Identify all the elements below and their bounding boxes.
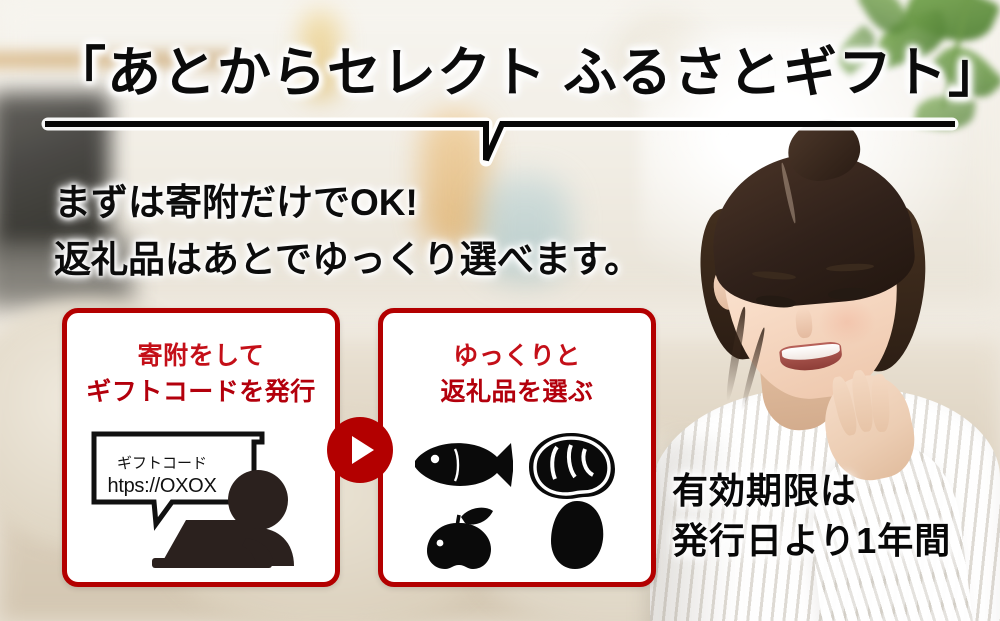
step-card-artwork <box>383 424 651 572</box>
arrow-triangle <box>352 436 374 464</box>
bubble-line-1: ギフトコード <box>87 455 237 474</box>
meat-cut-icon <box>529 433 615 499</box>
step-title-line-2: ギフトコードを発行 <box>67 375 335 411</box>
subtitle: まずは寄附だけでOK! 返礼品はあとでゆっくり選べます。 <box>54 176 641 290</box>
promo-banner: 「あとからセレクト ふるさとギフト」とは まずは寄附だけでOK! 返礼品はあとで… <box>0 0 1000 621</box>
subtitle-line-2: 返礼品はあとでゆっくり選べます。 <box>54 233 641 288</box>
step-card-title: ゆっくりと 返礼品を選ぶ <box>383 339 651 410</box>
step-card-choose-gift[interactable]: ゆっくりと 返礼品を選ぶ <box>378 308 656 587</box>
title-underline-rule <box>40 110 960 174</box>
page-title: 「あとからセレクト ふるさとギフト」とは <box>52 28 952 107</box>
step-title-line-2: 返礼品を選ぶ <box>383 375 651 411</box>
expiry-note-line-2: 発行日より1年間 <box>672 516 951 566</box>
step-title-line-1: 寄附をして <box>67 339 335 375</box>
step-card-issue-code[interactable]: 寄附をして ギフトコードを発行 ギフトコード htps://OXO <box>62 308 340 587</box>
subtitle-line-1: まずは寄附だけでOK! <box>54 176 641 231</box>
play-arrow-icon[interactable] <box>327 417 393 483</box>
gift-code-bubble-text: ギフトコード htps://OXOX <box>87 455 237 499</box>
expiry-note-line-1: 有効期限は <box>672 466 951 516</box>
expiry-note: 有効期限は 発行日より1年間 <box>672 466 951 565</box>
gift-items-icons <box>407 427 627 569</box>
woman-cheek <box>818 298 876 346</box>
step-title-line-1: ゆっくりと <box>383 339 651 375</box>
step-card-title: 寄附をして ギフトコードを発行 <box>67 339 335 410</box>
mango-icon <box>551 501 603 569</box>
bubble-line-2: htps://OXOX <box>87 474 237 499</box>
apple-icon <box>427 508 493 569</box>
underline-notch-icon <box>40 110 960 174</box>
fish-icon <box>415 443 513 487</box>
